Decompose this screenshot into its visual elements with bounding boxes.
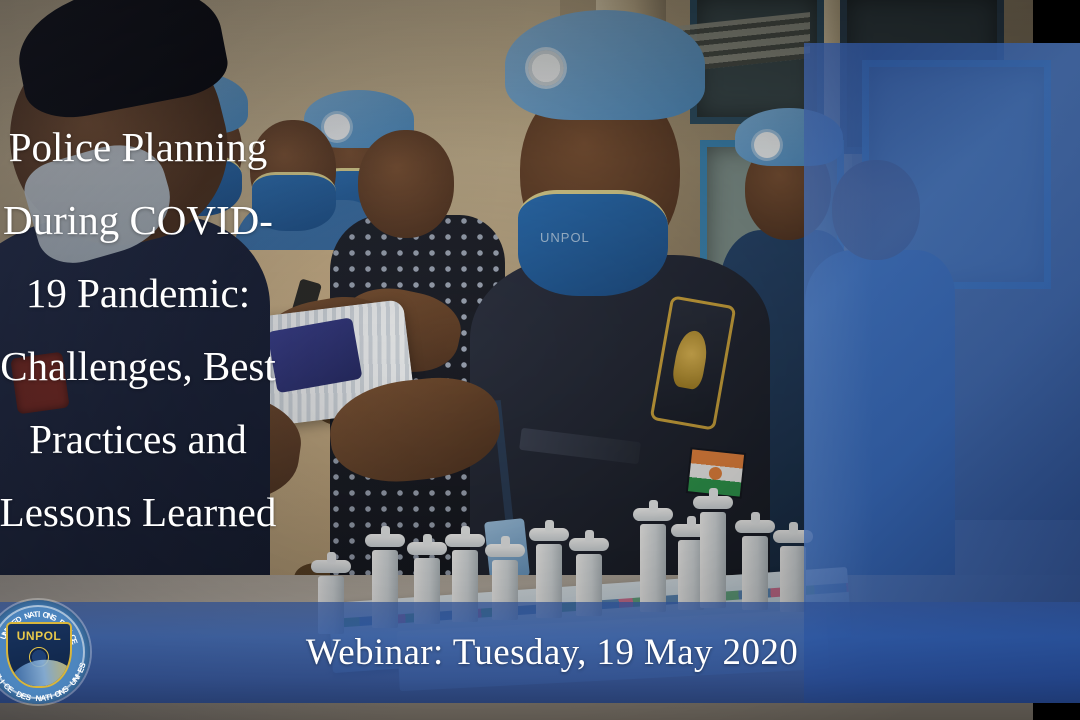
title-line: During COVID-: [3, 184, 273, 257]
webinar-slide: UNPOL: [0, 0, 1080, 720]
slide-title: Police Planning During COVID- 19 Pandemi…: [0, 0, 276, 660]
webinar-caption: Webinar: Tuesday, 19 May 2020: [0, 602, 1080, 703]
title-line: 19 Pandemic:: [26, 257, 250, 330]
title-line: Challenges, Best: [0, 330, 276, 403]
title-line: Practices and: [29, 403, 246, 476]
letterbox-band-bottom-right: [1033, 703, 1080, 720]
title-line: Lessons Learned: [0, 476, 276, 549]
title-line: Police Planning: [9, 111, 268, 184]
letterbox-band-top-right: [1033, 0, 1080, 43]
